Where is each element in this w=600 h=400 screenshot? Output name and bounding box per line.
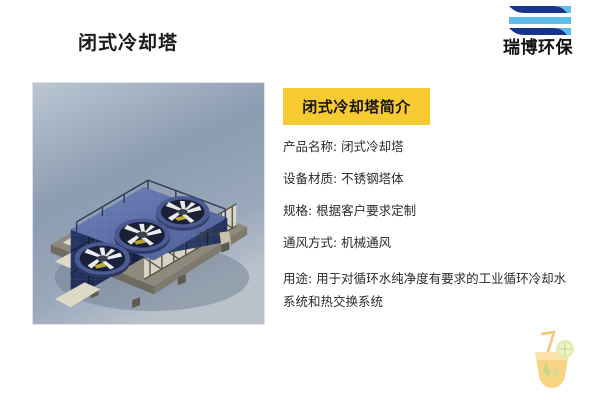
spec-material: 设备材质: 不锈钢塔体	[283, 170, 583, 188]
spec-specification: 规格: 根据客户要求定制	[283, 202, 583, 220]
brand-name: 瑞博环保	[503, 40, 573, 57]
info-heading-banner: 闭式冷却塔简介	[283, 88, 430, 125]
spec-ventilation: 通风方式: 机械通风	[283, 234, 583, 252]
spec-usage: 用途: 用于对循环水纯净度有要求的工业循环冷却水系统和热交换系统	[283, 267, 578, 313]
slide-page: 闭式冷却塔 瑞博环保	[0, 0, 600, 400]
page-title: 闭式冷却塔	[78, 28, 178, 55]
product-image	[32, 82, 265, 325]
drink-glass-icon	[524, 330, 582, 392]
spec-list: 产品名称: 闭式冷却塔 设备材质: 不锈钢塔体 规格: 根据客户要求定制 通风方…	[283, 138, 583, 313]
cooling-tower-illustration	[33, 83, 264, 324]
brand-logo: 瑞博环保	[484, 4, 592, 66]
info-heading-text: 闭式冷却塔简介	[302, 96, 411, 117]
wave-bands-logo-icon	[501, 4, 575, 38]
spec-product-name: 产品名称: 闭式冷却塔	[283, 138, 583, 156]
